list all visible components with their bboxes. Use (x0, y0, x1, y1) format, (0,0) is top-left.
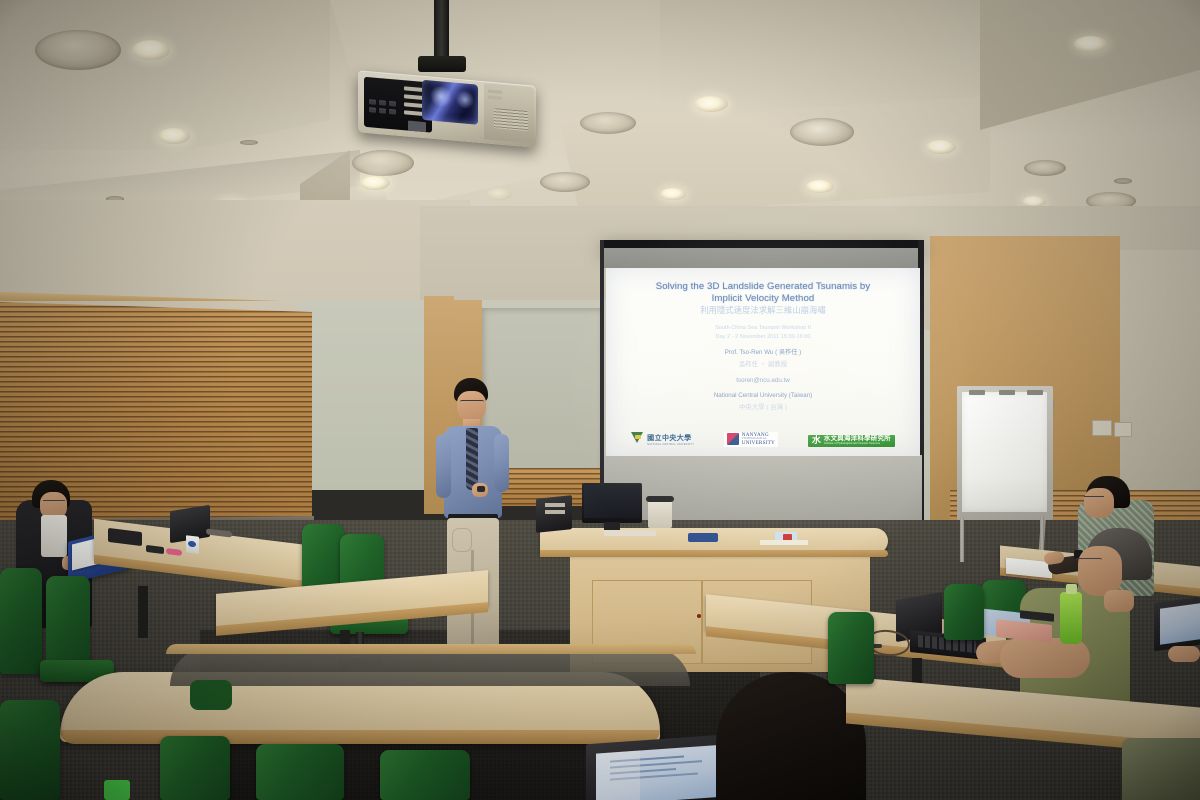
attendee-right-front-face (1078, 546, 1122, 596)
podium-monitor-screen (584, 485, 640, 518)
slide-email: tsoren@ncu.edu.tw (606, 377, 920, 386)
logo-nanyang-technological-university: NANYANG TECHNOLOGICAL UNIVERSITY (724, 432, 778, 447)
presenter-remote-clicker[interactable] (477, 486, 485, 492)
projector-mount-pole (434, 0, 449, 60)
podium-keyboard[interactable] (604, 530, 656, 536)
podium-control-panel[interactable] (688, 533, 718, 542)
ncu-logo-subtext: NATIONAL CENTRAL UNIVERSITY (647, 443, 694, 446)
slide-presenter: Prof. Tso-Ren Wu ( 吳祚任 ) (606, 349, 920, 358)
podium-monitor-stand (604, 522, 620, 530)
water-bottle (1060, 592, 1082, 644)
podium-paper-strip (760, 540, 808, 545)
projector-key-3[interactable] (389, 101, 396, 107)
ceiling-speaker-2 (352, 150, 414, 176)
downlight-1 (132, 40, 170, 60)
podium-laptop-lid[interactable] (536, 495, 572, 533)
downlight-8 (806, 180, 834, 193)
downlight-6 (660, 188, 686, 200)
presenter (430, 378, 516, 660)
flipchart-easel[interactable] (957, 386, 1053, 520)
attendee-right-front-neck (1104, 590, 1134, 612)
far-right-hand (1168, 646, 1200, 662)
ntu-logo-line3: UNIVERSITY (742, 441, 775, 446)
projector-mount-bracket (418, 56, 466, 72)
chair-front-center[interactable] (256, 744, 344, 800)
chair-front-left-1[interactable] (0, 700, 60, 800)
chair-front-center-2[interactable] (380, 750, 470, 800)
wall-outlet-1[interactable] (1092, 420, 1112, 436)
water-bottle-cap (1066, 584, 1077, 594)
chair-left-1[interactable] (0, 568, 42, 674)
desk-front-curved-edge (60, 730, 660, 744)
downlight-5 (486, 188, 512, 200)
screen-unused-band (604, 248, 922, 268)
downlight-9 (926, 140, 956, 154)
flipchart-clip-3[interactable] (1027, 390, 1043, 395)
presenter-glasses (460, 400, 484, 406)
desk-left-leg (138, 586, 148, 638)
projector-key-6[interactable] (389, 109, 396, 115)
logo-institute-hydrological-oceanic-sciences: 水 水文與海洋科學研究所 Institute of Hydrological a… (808, 435, 895, 447)
presenter-arm-left (436, 434, 451, 498)
attendee-right-front-arm (1000, 638, 1090, 678)
chair-front-backrest-top (190, 680, 232, 710)
podium-document-camera[interactable] (648, 500, 672, 528)
projector-lens-glow-secondary (456, 89, 474, 111)
presenter-arm-right (494, 434, 509, 492)
logo-national-central-university: 國立中央大學 NATIONAL CENTRAL UNIVERSITY (631, 432, 694, 447)
slide-title-chinese: 利用隱式速度法求解三維山崩海嘯 (606, 305, 920, 315)
screen-top-bar (602, 240, 924, 248)
lecture-room-photo: Solving the 3D Landslide Generated Tsuna… (0, 0, 1200, 800)
slide-subtitle-line2: Day 2 - 2 November 2011 15:30-16:00 (606, 333, 920, 341)
slide-title-line1: Solving the 3D Landslide Generated Tsuna… (606, 281, 920, 293)
flipchart-paper (962, 392, 1047, 512)
ceiling-speaker-5 (790, 118, 854, 146)
ncu-logo-text: 國立中央大學 (647, 433, 694, 443)
far-right-laptop-screen (1160, 603, 1200, 645)
wall-outlet-2[interactable] (1114, 422, 1132, 437)
attendee-right-front-glasses (1076, 558, 1102, 565)
projector-key-4[interactable] (369, 107, 376, 113)
ihos-logo-english: Institute of Hydrological and Oceanic Sc… (824, 443, 891, 446)
foreground-green-bottle (104, 780, 130, 800)
sprinkler-2 (240, 140, 258, 145)
presenter-pocket (452, 528, 472, 552)
chair-right-front-2[interactable] (944, 584, 984, 640)
downlight-11 (1074, 36, 1108, 52)
downlight-7 (694, 96, 728, 112)
ceiling-speaker-1 (35, 30, 121, 70)
ntu-logo-mark (727, 433, 739, 445)
downlight-4 (360, 176, 390, 190)
flipchart-clip-2[interactable] (999, 390, 1015, 395)
slide-title-line2: Implicit Velocity Method (606, 293, 920, 305)
projector-display (408, 121, 426, 133)
projector-key-1[interactable] (369, 99, 376, 105)
presenter-tie (466, 428, 478, 490)
ceiling-speaker-4 (580, 112, 636, 134)
podium-laptop-label-1 (545, 503, 565, 507)
chair-right-front-1[interactable] (828, 612, 874, 684)
projector-exhaust-vent (494, 108, 528, 131)
podium-lock[interactable] (697, 614, 701, 618)
flipchart-clip-1[interactable] (969, 390, 985, 395)
attendee-left-shirt (41, 515, 67, 557)
slide-subtitle-line1: South China Sea Tsunami Workshop II (606, 324, 920, 332)
projector-key-2[interactable] (379, 100, 386, 106)
ceiling-tray-left (0, 0, 330, 150)
ceiling-speaker-6 (1024, 160, 1066, 176)
sprinkler-3 (1114, 178, 1132, 184)
flipchart-leg-left (960, 518, 964, 562)
foreground-person-head (716, 672, 866, 800)
attendee-right-front-lap (1122, 738, 1200, 800)
slide-presenter-chinese: 吳祚任 ‧ 副教授 (606, 361, 920, 370)
podium-worktop-edge (540, 550, 888, 557)
projected-slide: Solving the 3D Landslide Generated Tsuna… (606, 268, 920, 456)
attendee-right-back-face (1084, 488, 1114, 518)
desk-front-panel-trim (166, 644, 696, 654)
attendee-left-glasses (43, 500, 65, 505)
slide-affiliation-chinese: 中央大學 ( 台灣 ) (606, 404, 920, 413)
projector-key-5[interactable] (379, 108, 386, 114)
slide-logo-row: 國立中央大學 NATIONAL CENTRAL UNIVERSITY NANYA… (606, 432, 920, 447)
slide-affiliation: National Central University (Taiwan) (606, 392, 920, 401)
ceiling-speaker-3 (540, 172, 590, 192)
ihos-logo-mark: 水 (812, 436, 821, 445)
presenter-face (457, 391, 486, 421)
attendee-right-back-glasses (1084, 496, 1104, 501)
desk-left-cup-logo (188, 541, 196, 548)
podium-monitor[interactable] (582, 483, 642, 523)
podium-camera-arm (646, 496, 674, 502)
downlight-2 (158, 128, 190, 144)
screen-sidebar (596, 751, 640, 800)
chair-front-left-2[interactable] (160, 736, 230, 800)
podium-laptop-label-2 (545, 510, 565, 514)
